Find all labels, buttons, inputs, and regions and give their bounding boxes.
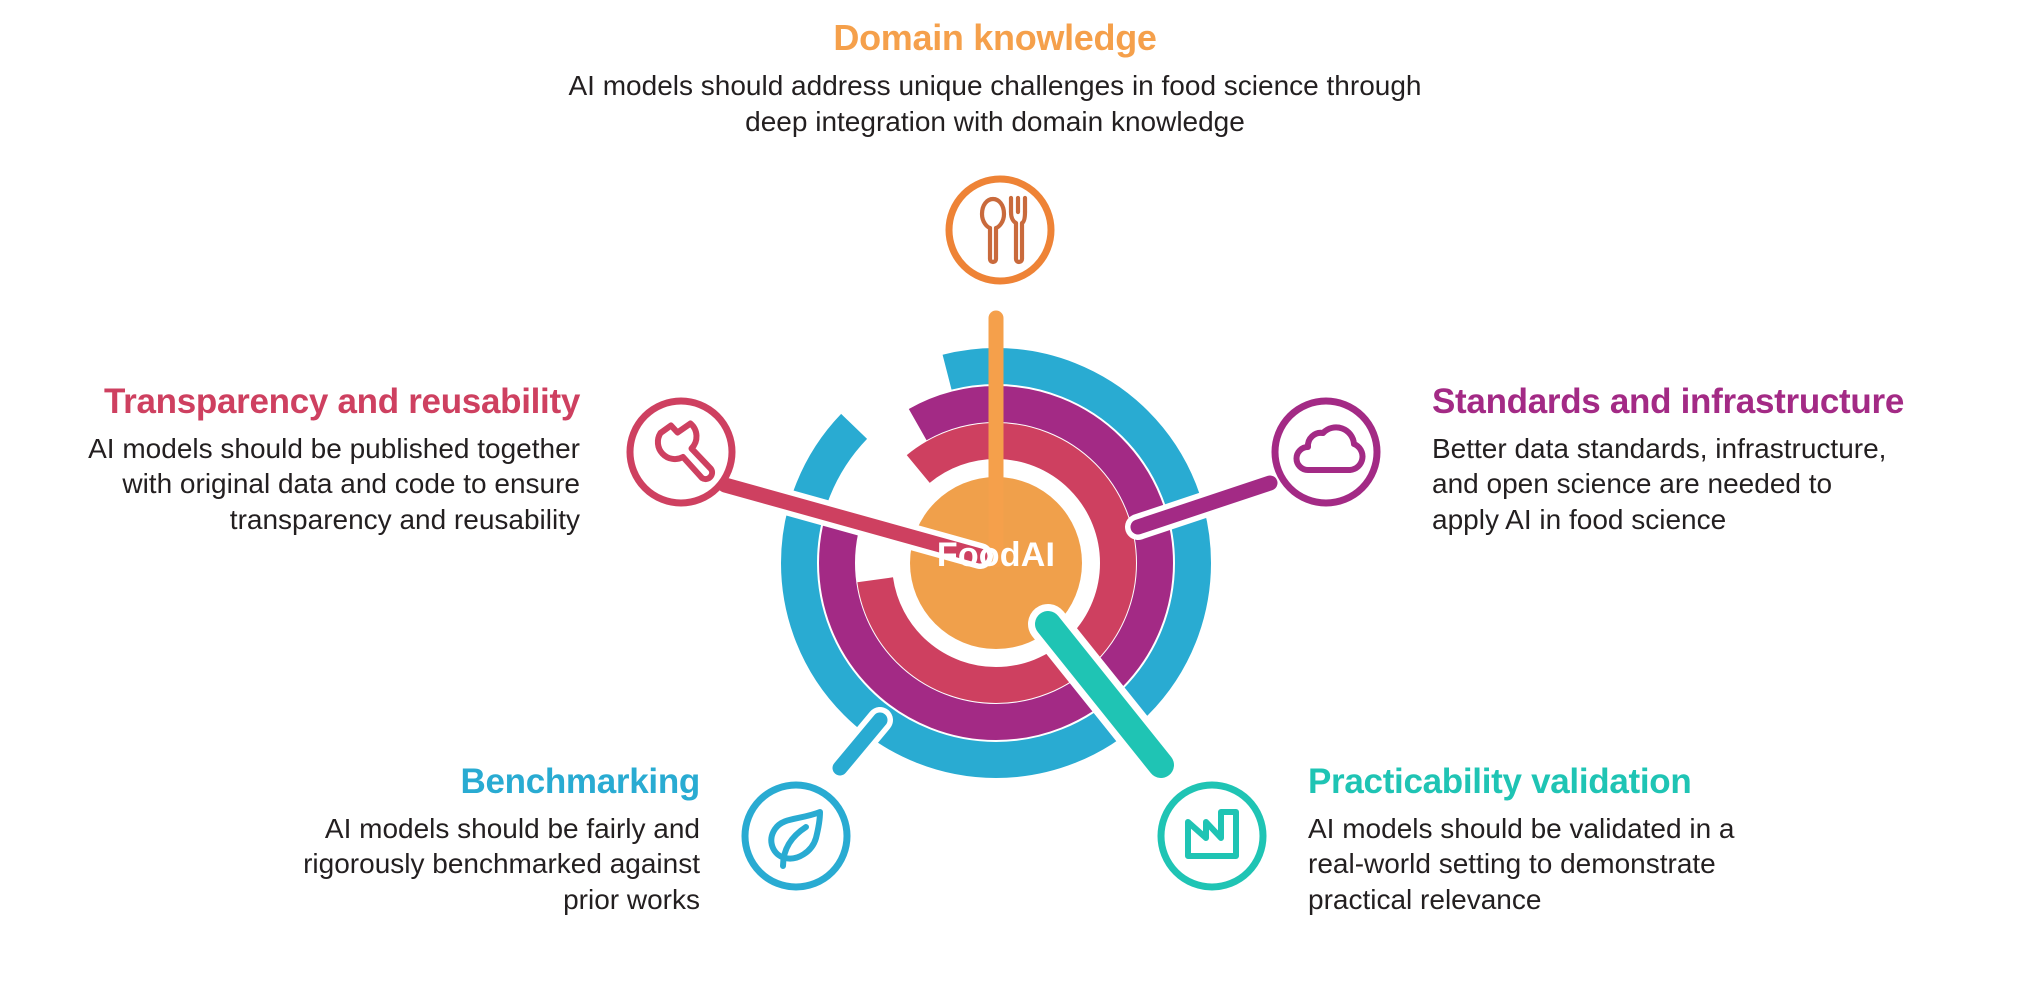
node-title-domain-knowledge: Domain knowledge (440, 18, 1550, 58)
desc-line: practical relevance (1308, 884, 1541, 915)
desc-line: real-world setting to demonstrate (1308, 848, 1716, 879)
node-transparency-and-reusability: Transparency and reusability AI models s… (20, 382, 580, 537)
desc-line: apply AI in food science (1432, 504, 1726, 535)
node-practicability-validation: Practicability validation AI models shou… (1308, 762, 1868, 917)
badge-benchmarking[interactable] (745, 785, 847, 887)
node-desc-practicability-validation: AI models should be validated in a real-… (1308, 811, 1868, 917)
diagram-canvas: FoodAI Domain knowledge AI models should… (0, 0, 2026, 1004)
desc-line: deep integration with domain knowledge (745, 106, 1245, 137)
node-domain-knowledge: Domain knowledge AI models should addres… (440, 18, 1550, 139)
node-title-transparency-and-reusability: Transparency and reusability (20, 382, 580, 421)
desc-line: AI models should address unique challeng… (568, 70, 1421, 101)
desc-line: AI models should be fairly and (325, 813, 700, 844)
node-desc-standards-and-infrastructure: Better data standards, infrastructure, a… (1432, 431, 2012, 537)
desc-line: Better data standards, infrastructure, (1432, 433, 1886, 464)
node-desc-benchmarking: AI models should be fairly and rigorousl… (160, 811, 700, 917)
desc-line: AI models should be published together (88, 433, 580, 464)
desc-line: prior works (563, 884, 700, 915)
badge-practicability-validation[interactable] (1161, 785, 1263, 887)
desc-line: and open science are needed to (1432, 468, 1832, 499)
node-benchmarking: Benchmarking AI models should be fairly … (160, 762, 700, 917)
badge-domain-knowledge[interactable] (949, 179, 1051, 281)
node-title-practicability-validation: Practicability validation (1308, 762, 1868, 801)
badge-standards-and-infrastructure[interactable] (1275, 401, 1377, 503)
desc-line: AI models should be validated in a (1308, 813, 1735, 844)
center-label: FoodAI (856, 536, 1136, 575)
node-standards-and-infrastructure: Standards and infrastructure Better data… (1432, 382, 2012, 537)
desc-line: rigorously benchmarked against (303, 848, 700, 879)
node-title-standards-and-infrastructure: Standards and infrastructure (1432, 382, 2012, 421)
desc-line: with original data and code to ensure (122, 468, 580, 499)
desc-line: transparency and reusability (230, 504, 580, 535)
node-desc-domain-knowledge: AI models should address unique challeng… (440, 68, 1550, 139)
badge-transparency-and-reusability[interactable] (630, 401, 732, 503)
node-title-benchmarking: Benchmarking (160, 762, 700, 801)
node-desc-transparency-and-reusability: AI models should be published together w… (20, 431, 580, 537)
